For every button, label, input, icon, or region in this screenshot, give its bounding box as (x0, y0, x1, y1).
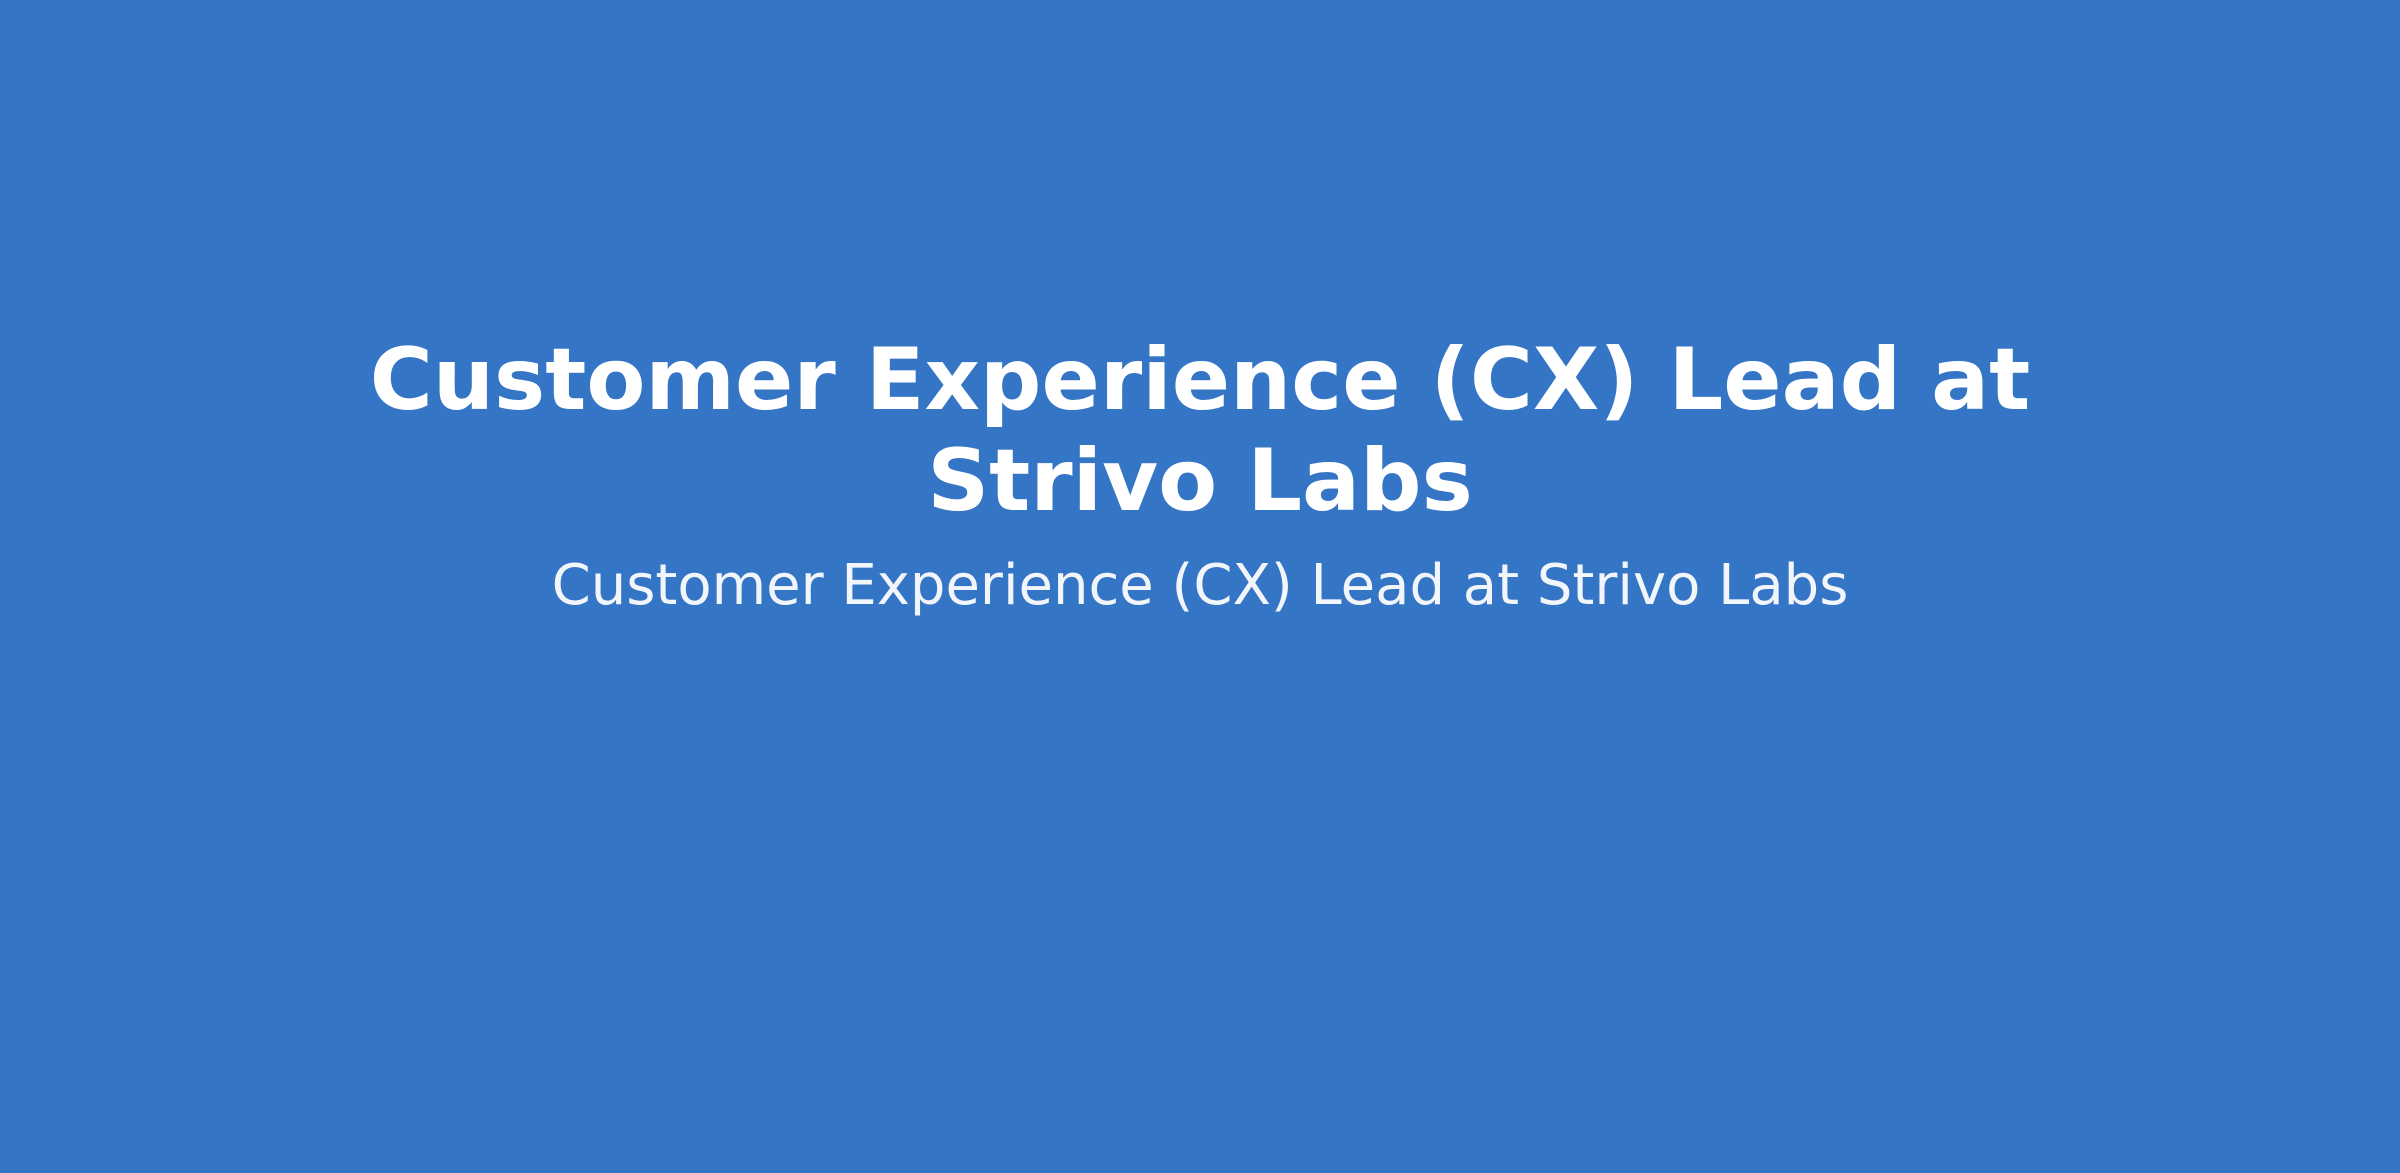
page-title: Customer Experience (CX) Lead at Strivo … (355, 330, 2045, 533)
share-card: Customer Experience (CX) Lead at Strivo … (0, 0, 2400, 1173)
card-content: Customer Experience (CX) Lead at Strivo … (0, 0, 2400, 621)
page-subtitle: Customer Experience (CX) Lead at Strivo … (552, 551, 1849, 621)
